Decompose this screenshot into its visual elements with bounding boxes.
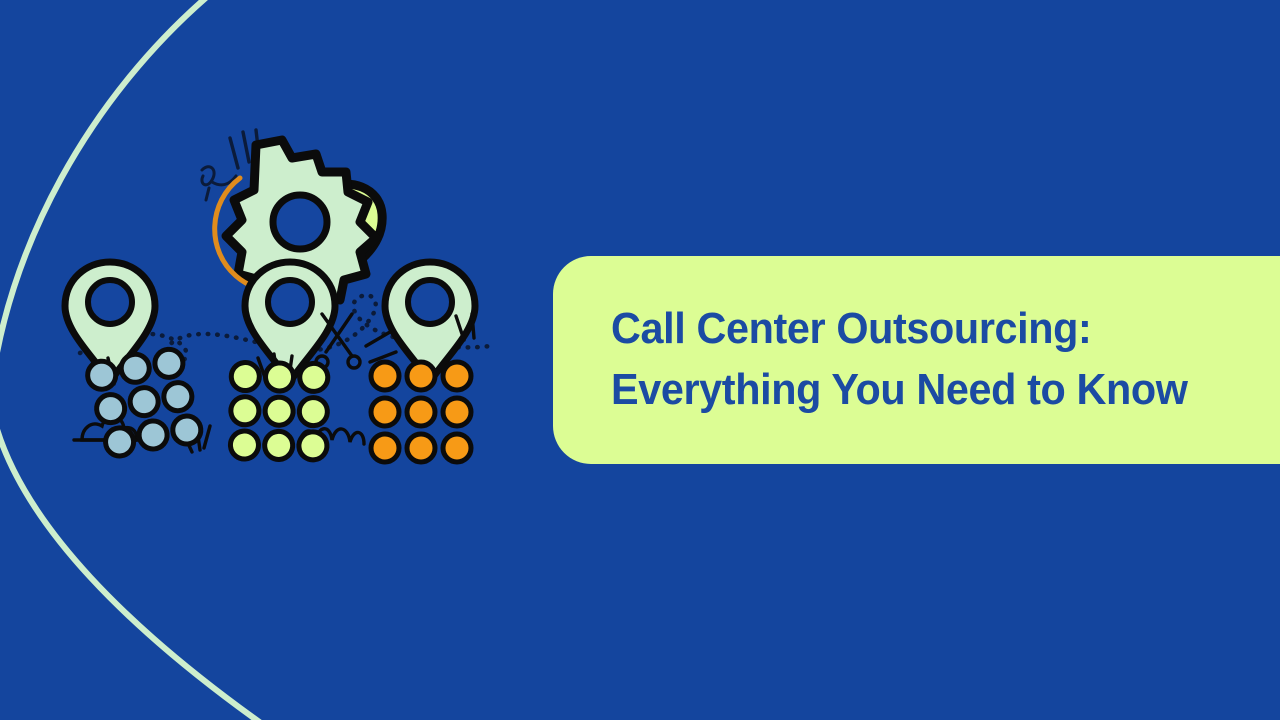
illustration-group xyxy=(60,110,500,470)
slide-canvas: Call Center Outsourcing: Everything You … xyxy=(0,0,1280,720)
title-card: Call Center Outsourcing: Everything You … xyxy=(553,256,1280,464)
dot-grid-lime xyxy=(222,354,336,468)
dot-grid-blue xyxy=(86,347,202,458)
dot-grid-orange xyxy=(371,362,471,462)
page-title: Call Center Outsourcing: Everything You … xyxy=(611,299,1214,420)
